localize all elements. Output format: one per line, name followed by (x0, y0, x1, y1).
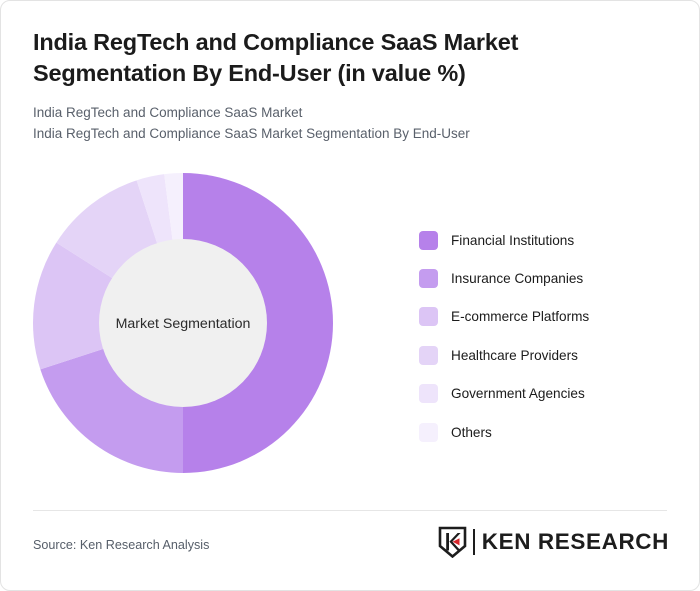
legend-swatch-icon (419, 423, 438, 442)
ken-research-shield-icon (438, 526, 467, 558)
donut-chart: Market Segmentation (33, 166, 333, 471)
page-title: India RegTech and Compliance SaaS Market… (33, 27, 667, 89)
legend-swatch-icon (419, 269, 438, 288)
chart-header: India RegTech and Compliance SaaS Market… (33, 27, 667, 145)
chart-card: India RegTech and Compliance SaaS Market… (0, 0, 700, 591)
donut-center-label: Market Segmentation (116, 316, 251, 332)
brand-wordmark: KEN RESEARCH (482, 531, 669, 554)
subtitle-segmentation: India RegTech and Compliance SaaS Market… (33, 124, 667, 145)
legend-item[interactable]: Government Agencies (419, 375, 674, 413)
legend-item-label: Others (451, 425, 492, 440)
legend-item-label: Financial Institutions (451, 233, 574, 248)
legend-swatch-icon (419, 307, 438, 326)
chart-legend: Financial InstitutionsInsurance Companie… (419, 221, 674, 451)
legend-item-label: E-commerce Platforms (451, 309, 589, 324)
legend-swatch-icon (419, 231, 438, 250)
legend-item[interactable]: Insurance Companies (419, 259, 674, 297)
legend-item[interactable]: Healthcare Providers (419, 336, 674, 374)
chart-plot-area: Market Segmentation Financial Institutio… (1, 166, 700, 496)
donut-svg: Market Segmentation (33, 166, 333, 471)
brand-logo: KEN RESEARCH (438, 525, 669, 559)
legend-item[interactable]: E-commerce Platforms (419, 298, 674, 336)
legend-item[interactable]: Financial Institutions (419, 221, 674, 259)
legend-item[interactable]: Others (419, 413, 674, 451)
legend-swatch-icon (419, 384, 438, 403)
brand-separator (473, 529, 475, 555)
footer-divider (33, 510, 667, 511)
legend-item-label: Insurance Companies (451, 271, 583, 286)
subtitle-market: India RegTech and Compliance SaaS Market (33, 103, 667, 124)
source-note: Source: Ken Research Analysis (33, 538, 209, 552)
subtitle-group: India RegTech and Compliance SaaS Market… (33, 103, 667, 145)
legend-item-label: Government Agencies (451, 386, 585, 401)
legend-swatch-icon (419, 346, 438, 365)
legend-item-label: Healthcare Providers (451, 348, 578, 363)
